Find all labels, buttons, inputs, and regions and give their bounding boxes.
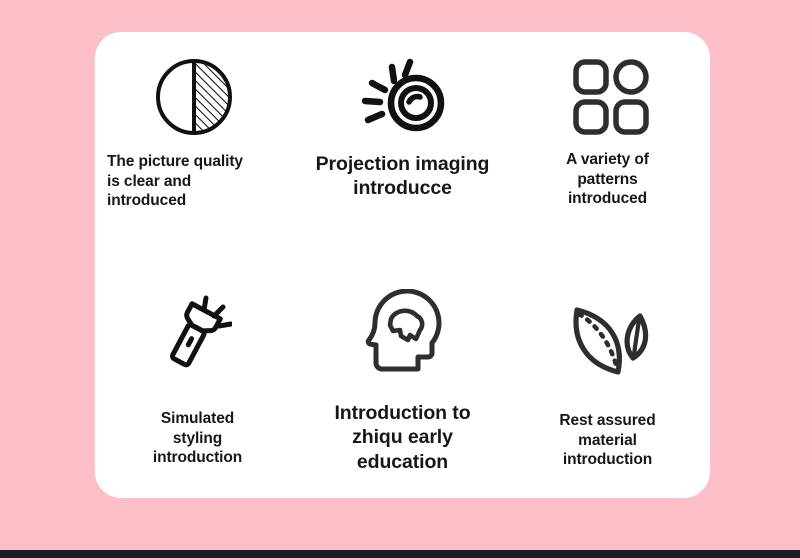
feature-label: A variety of patterns introduced [566, 150, 649, 209]
two-leaves-icon [562, 297, 658, 383]
half-shaded-circle-icon [146, 54, 242, 140]
feature-label-line: is clear and [107, 172, 243, 192]
feature-label: Projection imaging introducce [316, 152, 490, 201]
head-brain-icon [355, 289, 451, 375]
feature-item-variety-patterns[interactable]: A variety of patterns introduced [505, 32, 710, 265]
feature-item-projection-imaging[interactable]: Projection imaging introducce [300, 32, 505, 265]
feature-label-line: education [334, 450, 470, 474]
feature-label-line: styling [153, 429, 242, 449]
feature-label-line: Rest assured [559, 411, 655, 431]
feature-label: Introduction to zhiqu early education [334, 401, 470, 474]
feature-label: The picture quality is clear and introdu… [107, 152, 243, 211]
feature-item-rest-assured-material[interactable]: Rest assured material introduction [505, 265, 710, 498]
feature-label-line: introducce [316, 176, 490, 200]
feature-label-line: A variety of [566, 150, 649, 170]
feature-label: Simulated styling introduction [153, 409, 242, 468]
feature-label-line: The picture quality [107, 152, 243, 172]
feature-item-picture-quality[interactable]: The picture quality is clear and introdu… [95, 32, 300, 265]
flashlight-icon [145, 293, 241, 379]
four-shapes-pattern-icon [563, 54, 659, 140]
feature-label: Rest assured material introduction [559, 411, 655, 470]
projection-light-icon [355, 56, 451, 142]
feature-card: The picture quality is clear and introdu… [95, 32, 710, 498]
feature-label-line: Introduction to [334, 401, 470, 425]
feature-item-zhiqu-education[interactable]: Introduction to zhiqu early education [300, 265, 505, 498]
feature-grid: The picture quality is clear and introdu… [95, 32, 710, 498]
feature-label-line: introduction [559, 450, 655, 470]
page-background: The picture quality is clear and introdu… [0, 0, 800, 558]
bottom-strip [0, 550, 800, 558]
feature-label-line: introduced [107, 191, 243, 211]
feature-label-line: material [559, 431, 655, 451]
feature-label-line: Projection imaging [316, 152, 490, 176]
feature-label-line: patterns [566, 170, 649, 190]
feature-label-line: Simulated [153, 409, 242, 429]
feature-label-line: introduction [153, 448, 242, 468]
feature-label-line: zhiqu early [334, 425, 470, 449]
feature-item-simulated-styling[interactable]: Simulated styling introduction [95, 265, 300, 498]
feature-label-line: introduced [566, 189, 649, 209]
